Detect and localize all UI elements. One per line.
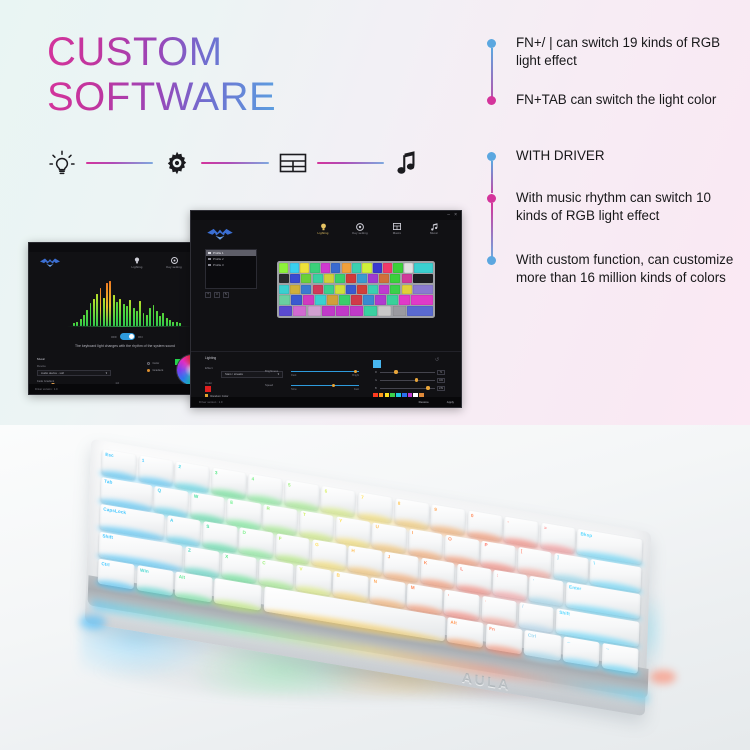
slider-max-label: Bright (352, 374, 359, 377)
toolbar-label: Lighting (311, 232, 335, 235)
rgb-slider-knob[interactable] (415, 378, 418, 381)
product-photo-section: Esc1234567890-=BkspTabQWERTYUIOP[]\CapsL… (0, 425, 750, 750)
folder-icon (208, 264, 211, 267)
preview-key[interactable] (375, 295, 386, 305)
preview-key[interactable] (390, 285, 400, 295)
spectrum-bar (133, 308, 135, 326)
device-value: Audio device - soft (41, 371, 64, 375)
preview-key[interactable] (413, 274, 433, 284)
chevron-down-icon: ▾ (106, 371, 107, 375)
edit-profile-button[interactable]: ✎ (223, 292, 229, 298)
preview-key[interactable] (279, 263, 288, 273)
keycap-legend: Win (140, 568, 149, 574)
feature-bullet-list: FN+/ | can switch 19 kinds of RGB light … (487, 34, 743, 287)
keycap: 2 (175, 461, 210, 492)
keycap-legend: M (411, 586, 415, 591)
bullet-dot (487, 256, 496, 265)
keycap-legend: E (230, 501, 233, 506)
spectrum-bar (136, 311, 138, 326)
keyboard-layout-preview[interactable] (277, 261, 435, 318)
keycap-legend: Shift (559, 611, 570, 617)
preview-key[interactable] (346, 274, 356, 284)
preview-key[interactable] (378, 306, 391, 316)
spectrum-bar (113, 295, 115, 327)
preview-key[interactable] (404, 263, 413, 273)
keycap-legend: ] (557, 555, 559, 560)
preview-key-row (279, 263, 433, 273)
restore-button[interactable]: Restore (419, 400, 429, 404)
keycap-legend: C (262, 561, 266, 566)
keycap-legend: F (279, 536, 282, 541)
rgb-slider-track[interactable] (380, 372, 435, 373)
preview-key[interactable] (327, 295, 338, 305)
preview-key-row (279, 285, 433, 295)
keycap-legend: P (484, 543, 487, 548)
keycap-legend: ← (566, 639, 571, 644)
slider-knob[interactable] (354, 370, 358, 374)
preview-key[interactable] (301, 274, 311, 284)
keycap: Y (335, 516, 370, 547)
profile-list-item[interactable]: Profile 3 (206, 262, 256, 268)
spectrum-bar (116, 302, 118, 326)
spectrum-bar (106, 283, 108, 326)
bullet-text: WITH DRIVER (516, 147, 743, 165)
title-line-1: CUSTOM (47, 32, 276, 72)
slider-track[interactable] (291, 371, 359, 372)
rgb-channel-sliders[interactable]: R71G182B239 (375, 370, 445, 394)
keycap: B (333, 570, 368, 601)
lightbulb-icon (45, 146, 79, 180)
profile-label: Profile 3 (213, 263, 224, 267)
keycap-legend: Esc (105, 452, 114, 458)
slider-track[interactable] (291, 385, 359, 386)
preview-key[interactable] (331, 263, 340, 273)
preview-key[interactable] (321, 263, 330, 273)
spectrum-bar (93, 299, 95, 326)
keycap-legend: 6 (325, 489, 328, 494)
keycap: 3 (211, 468, 246, 499)
keycap: Esc (102, 449, 137, 480)
preview-key[interactable] (279, 274, 289, 284)
preview-key[interactable] (350, 306, 363, 316)
spectrum-bar (156, 311, 158, 326)
page-title: CUSTOM SOFTWARE (47, 32, 276, 117)
rgb-channel-label: B (375, 387, 378, 390)
keycap: Q (154, 485, 189, 516)
preview-key[interactable] (373, 263, 382, 273)
keycap: Z (184, 546, 219, 577)
title-line-2: SOFTWARE (47, 77, 276, 117)
preview-key[interactable] (279, 295, 290, 305)
keycap: 5 (284, 480, 319, 511)
radio-color[interactable]: Color (147, 361, 163, 365)
preview-key[interactable] (383, 263, 392, 273)
toolbar-item-macro[interactable]: Macro (385, 222, 409, 235)
keycap: F (275, 533, 310, 564)
radio-indicator (147, 369, 150, 372)
toolbar-item-music[interactable]: Music (422, 222, 446, 235)
bullet-dot (487, 152, 496, 161)
keycap: N (370, 577, 405, 608)
keycap-legend: [ (521, 549, 523, 554)
keycap: [ (517, 546, 552, 577)
toolbar-item-key-setting[interactable]: Key setting (348, 222, 372, 235)
apply-button[interactable]: Apply (447, 400, 454, 404)
spectrum-bar (80, 319, 82, 326)
device-label: Device (37, 364, 137, 368)
preview-key[interactable] (335, 285, 345, 295)
slider-label: Speed (265, 383, 273, 387)
rgb-value-field[interactable]: 182 (437, 378, 445, 383)
brightness-slider[interactable]: Brightness Dark Bright (291, 371, 359, 377)
keycap-legend: Enter (569, 585, 581, 592)
window-controls[interactable]: – × (447, 213, 457, 218)
preview-key[interactable] (402, 285, 412, 295)
rgb-slider-row: R71 (375, 370, 445, 375)
preview-key[interactable] (357, 274, 367, 284)
keycap: ' (529, 576, 564, 607)
bullet-connector (491, 203, 493, 257)
window-footer: Driver version : 1.0 Restore Apply (191, 397, 462, 407)
keycap-legend: Q (157, 488, 161, 493)
spectrum-bar (162, 313, 164, 327)
bullet-text: FN+/ | can switch 19 kinds of RGB light … (516, 34, 743, 70)
keycap-legend: X (225, 555, 228, 560)
keycap-legend: Ctrl (528, 633, 536, 639)
preview-key[interactable] (379, 285, 389, 295)
preview-key[interactable] (368, 285, 378, 295)
keycap-legend: R (266, 507, 270, 512)
profile-list[interactable]: Profile 1Profile 2Profile 3 (205, 249, 257, 289)
preview-key[interactable] (279, 306, 292, 316)
lighting-controls-panel: Lighting Effect Stars / streaks ▾ Color … (191, 351, 462, 399)
keycap-legend: \ (593, 561, 595, 566)
close-icon[interactable]: × (454, 213, 457, 218)
toolbar-item-lighting[interactable]: Lighting (311, 222, 335, 235)
keyboard-product-photo: Esc1234567890-=BkspTabQWERTYUIOP[]\CapsL… (70, 460, 680, 710)
preview-key[interactable] (322, 306, 335, 316)
spectrum-bar (100, 288, 102, 326)
spectrum-bar (103, 298, 105, 326)
color-preview-swatch (373, 360, 381, 368)
toggle-knob (129, 334, 134, 339)
connector-line-2 (201, 162, 268, 164)
preview-key[interactable] (313, 285, 323, 295)
keycap: M (407, 583, 442, 614)
table-grid-icon (385, 222, 409, 231)
preview-key[interactable] (336, 306, 349, 316)
keycap-legend: → (605, 646, 610, 651)
rgb-slider-track[interactable] (380, 380, 435, 381)
preview-key[interactable] (351, 295, 362, 305)
preview-key[interactable] (393, 306, 406, 316)
keycap-legend: 1 (142, 458, 145, 463)
preview-key[interactable] (303, 295, 314, 305)
section-title: Music (37, 357, 137, 361)
preview-key[interactable] (290, 274, 300, 284)
keycap: ; (493, 570, 528, 601)
keycap-legend: Alt (450, 620, 457, 626)
keycap-legend: Z (188, 549, 191, 554)
toggle-off-label: OFF (111, 335, 117, 339)
preview-key[interactable] (414, 263, 433, 273)
keycap: = (540, 523, 575, 554)
keycap: , (444, 589, 479, 620)
keycap: 9 (431, 504, 466, 535)
keycap-legend: 9 (434, 507, 437, 512)
preview-key[interactable] (339, 295, 350, 305)
spectrum-bar (96, 294, 98, 326)
slider-min-label: Dark (291, 374, 296, 377)
rgb-channel-label: G (375, 379, 378, 382)
product-infographic: CUSTOM SOFTWARE (0, 0, 750, 750)
preview-key[interactable] (407, 306, 433, 316)
keycap-legend: 0 (471, 513, 474, 518)
connector-line-3 (317, 162, 384, 164)
keycap: O (444, 534, 479, 565)
preview-key[interactable] (279, 285, 289, 295)
preview-key-row (279, 274, 433, 284)
toolbar-item-lighting[interactable]: Lighting (125, 256, 149, 269)
preview-key[interactable] (387, 295, 398, 305)
keycap: ← (563, 636, 600, 667)
window-toolbar[interactable]: Lighting Key setting Macro (311, 222, 446, 235)
toolbar-label: Music (422, 232, 446, 235)
keycap: 4 (248, 474, 283, 505)
version-text: Driver version : 1.0 (35, 388, 58, 391)
preview-key[interactable] (357, 285, 367, 295)
keycap-legend: / (522, 604, 524, 609)
radio-gradient[interactable]: Gradient (147, 368, 163, 372)
preview-key-row (279, 306, 433, 316)
keycap: / (518, 601, 553, 632)
spectrum-bar (90, 303, 92, 326)
keycap: ] (553, 552, 588, 583)
keycap-legend: L (460, 567, 463, 572)
spectrum-bar (153, 305, 155, 326)
keycap-legend: 2 (178, 464, 181, 469)
music-note-icon (422, 222, 446, 231)
keycap: 8 (394, 498, 429, 529)
preview-key[interactable] (315, 295, 326, 305)
keycap-legend: O (448, 537, 452, 542)
profile-label: Profile 1 (213, 251, 224, 255)
keycap-legend: ; (496, 573, 498, 578)
preview-key[interactable] (402, 274, 412, 284)
table-grid-icon (276, 146, 310, 180)
keycap-legend: Alt (179, 575, 186, 581)
keycap: G (311, 539, 346, 570)
toolbar-label: Lighting (125, 266, 149, 269)
list-item: WITH DRIVER (487, 147, 743, 165)
list-item: FN+/ | can switch 19 kinds of RGB light … (487, 34, 743, 70)
preview-key[interactable] (368, 274, 378, 284)
preview-key[interactable] (346, 285, 356, 295)
bullet-dot (487, 39, 496, 48)
keycap: K (420, 558, 455, 589)
window-titlebar: – × (191, 211, 461, 220)
keycap: Win (136, 565, 173, 596)
preview-key[interactable] (363, 295, 374, 305)
top-section: CUSTOM SOFTWARE (0, 0, 750, 425)
preview-key[interactable] (399, 295, 410, 305)
keycap-legend: 7 (361, 495, 364, 500)
keycap: Ctrl (98, 559, 135, 590)
keycap-legend: Y (339, 519, 342, 524)
keycap-legend: V (299, 567, 302, 572)
color-swatch-current[interactable] (205, 386, 211, 392)
lightbulb-icon (125, 256, 149, 265)
spectrum-bar (149, 308, 151, 326)
version-text: Driver version : 1.0 (199, 400, 222, 404)
spectrum-bar (146, 315, 148, 326)
preview-key[interactable] (393, 263, 402, 273)
preview-key[interactable] (301, 285, 311, 295)
rgb-value-field[interactable]: 239 (437, 386, 445, 391)
preview-key[interactable] (335, 274, 345, 284)
preview-key[interactable] (300, 263, 309, 273)
keycap-legend: A (170, 518, 174, 523)
keycap-legend: B (336, 573, 340, 578)
effect-label: Effect (205, 366, 213, 370)
preview-key[interactable] (379, 274, 389, 284)
keycap-legend: W (194, 495, 199, 500)
preview-key[interactable] (352, 263, 361, 273)
rgb-value-field[interactable]: 71 (437, 370, 445, 375)
keycap: H (348, 545, 383, 576)
rgb-slider-row: G182 (375, 378, 445, 383)
music-mode-radios[interactable]: Color Gradient (147, 361, 163, 375)
lightbulb-icon (311, 222, 335, 231)
rgb-corner-glow-left (80, 615, 106, 629)
bullet-text: With custom function, can customize more… (516, 251, 743, 287)
preview-key[interactable] (291, 295, 302, 305)
gear-icon (348, 222, 372, 231)
rgb-slider-track[interactable] (380, 388, 435, 389)
refresh-icon[interactable]: ↺ (435, 357, 439, 363)
preview-key[interactable] (324, 285, 334, 295)
keycap-legend: N (374, 580, 378, 585)
preview-key[interactable] (362, 263, 371, 273)
preview-key[interactable] (290, 263, 299, 273)
preview-key[interactable] (413, 285, 433, 295)
keycap-legend: 4 (251, 477, 254, 482)
preview-key[interactable] (310, 263, 319, 273)
feature-icon-strip (45, 140, 425, 186)
toolbar-label: Key setting (162, 266, 186, 269)
rgb-corner-glow-right (650, 670, 676, 684)
folder-icon (208, 258, 211, 261)
keycap-legend: CapsLock (103, 507, 126, 515)
add-profile-button[interactable]: + (205, 292, 211, 298)
spectrum-bar (109, 281, 111, 326)
spectrum-bar (119, 299, 121, 326)
preview-key[interactable] (390, 274, 400, 284)
bullet-text: FN+TAB can switch the light color (516, 91, 743, 109)
keycap-legend: J (388, 554, 391, 559)
keycap-legend: , (448, 592, 450, 597)
slider-knob[interactable] (332, 384, 336, 388)
driver-software-window[interactable]: – × Lighting Key (190, 210, 462, 408)
preview-key[interactable] (324, 274, 334, 284)
keycap: → (601, 643, 638, 674)
keycap: W (190, 492, 225, 523)
radio-label: Gradient (153, 368, 164, 372)
keycap-legend: G (315, 542, 319, 547)
minimize-icon[interactable]: – (447, 213, 450, 218)
rgb-slider-knob[interactable] (394, 370, 397, 373)
slider-min-label: Slow (291, 388, 297, 391)
spectrum-bar (129, 300, 131, 326)
spectrum-bar (159, 316, 161, 326)
preview-key[interactable] (293, 306, 306, 316)
keycap: 7 (357, 492, 392, 523)
keycap-legend: 3 (215, 471, 218, 476)
toggle-switch[interactable] (120, 333, 135, 340)
spectrum-bar (143, 313, 145, 326)
keycap: E (226, 498, 261, 529)
keycap-legend: H (351, 548, 355, 553)
keycap: 0 (467, 510, 502, 541)
keycap-legend: Bksp (580, 532, 592, 539)
bullet-dot (487, 96, 496, 105)
list-item: FN+TAB can switch the light color (487, 91, 743, 109)
list-item: With music rhythm can switch 10 kinds of… (487, 189, 743, 225)
brand-logo (40, 257, 60, 268)
radio-indicator (147, 362, 150, 365)
music-note-icon (391, 146, 425, 180)
preview-key-row (279, 295, 433, 305)
keycap-legend: I (412, 531, 414, 536)
preview-key[interactable] (364, 306, 377, 316)
keycap: D (239, 527, 274, 558)
bullet-dot (487, 194, 496, 203)
bullet-text: With music rhythm can switch 10 kinds of… (516, 189, 743, 225)
keycap: U (372, 522, 407, 553)
gear-icon (162, 256, 186, 265)
keycap: R (263, 504, 298, 535)
preview-key[interactable] (290, 285, 300, 295)
folder-icon (208, 252, 211, 255)
spectrum-bar (123, 304, 125, 327)
spectrum-bar (139, 301, 141, 326)
keycap: L (457, 564, 492, 595)
radio-label: Color (153, 361, 160, 365)
keycap: V (296, 564, 331, 595)
profile-label: Profile 2 (213, 257, 224, 261)
profile-action-buttons[interactable]: + □ ✎ (205, 292, 229, 298)
toolbar-label: Key setting (348, 232, 372, 235)
keycap-legend: Shift (102, 534, 113, 540)
keycap: C (259, 558, 294, 589)
keycap-legend: = (544, 526, 547, 531)
toggle-on-label: ON (138, 335, 143, 339)
keycap: Alt (447, 617, 484, 648)
speed-slider[interactable]: Speed Slow Fast (291, 385, 359, 391)
preview-key[interactable] (411, 295, 433, 305)
toolbar-item-key-setting[interactable]: Key setting (162, 256, 186, 269)
rgb-slider-knob[interactable] (426, 386, 429, 389)
device-select[interactable]: Audio device - soft ▾ (37, 370, 111, 376)
preview-key[interactable] (308, 306, 321, 316)
delete-profile-button[interactable]: □ (214, 292, 220, 298)
preview-key[interactable] (313, 274, 323, 284)
keycap: P (481, 540, 516, 571)
music-mode-toggle[interactable]: OFF ON (111, 333, 143, 340)
keycap: J (384, 551, 419, 582)
keycap-legend: Fn (489, 626, 495, 632)
preview-key[interactable] (342, 263, 351, 273)
